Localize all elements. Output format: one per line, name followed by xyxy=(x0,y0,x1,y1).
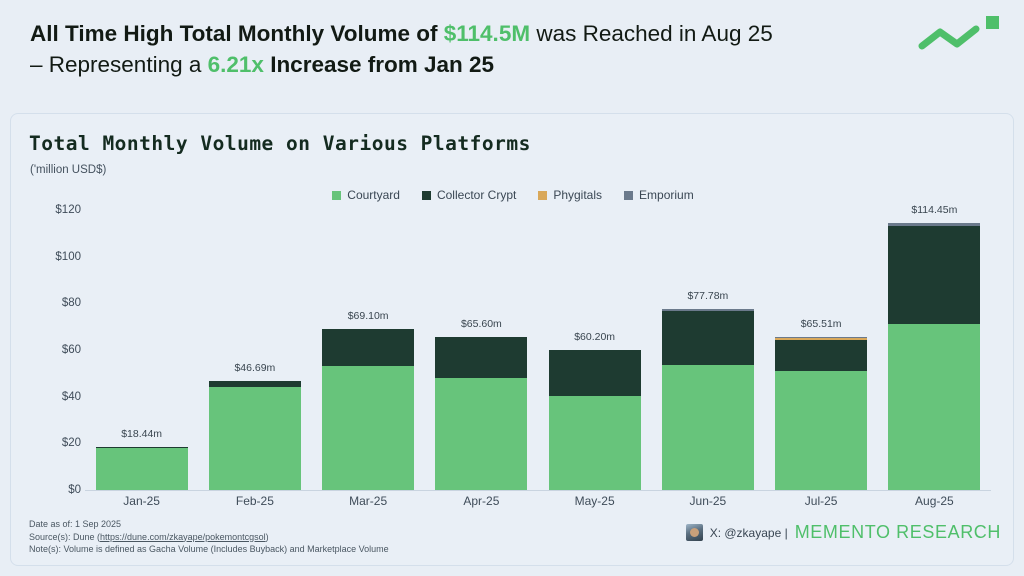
y-axis-tick: $80 xyxy=(62,297,81,309)
source-link[interactable]: https://dune.com/zkayape/pokemontcgsol xyxy=(100,532,266,542)
x-axis-tick: Aug-25 xyxy=(888,494,980,508)
headline-line1-post: was Reached in Aug 25 xyxy=(530,21,773,46)
bar-segment-courtyard[interactable] xyxy=(775,371,867,490)
y-axis-tick: $100 xyxy=(55,251,81,263)
legend-item-courtyard[interactable]: Courtyard xyxy=(332,188,400,202)
x-axis-tick: Jan-25 xyxy=(96,494,188,508)
headline-line1-pre: All Time High Total Monthly Volume of xyxy=(30,21,444,46)
x-axis-tick: Apr-25 xyxy=(435,494,527,508)
bar-value-label: $77.78m xyxy=(662,290,754,302)
brand-footer: X: @zkayape | MEMENTO RESEARCH xyxy=(686,522,1001,543)
legend-swatch-courtyard xyxy=(332,191,341,200)
legend-item-phygitals[interactable]: Phygitals xyxy=(538,188,602,202)
bar-stack[interactable] xyxy=(96,447,188,490)
bar-column[interactable]: $60.20m xyxy=(549,210,641,490)
legend-swatch-collector-crypt xyxy=(422,191,431,200)
legend-label-emporium: Emporium xyxy=(639,188,694,202)
y-axis-tick: $20 xyxy=(62,437,81,449)
x-axis-tick: Jun-25 xyxy=(662,494,754,508)
legend-swatch-phygitals xyxy=(538,191,547,200)
bar-segment-courtyard[interactable] xyxy=(435,378,527,490)
headline-line2-pre: – Representing a xyxy=(30,52,208,77)
legend-label-collector-crypt: Collector Crypt xyxy=(437,188,516,202)
chart-legend: Courtyard Collector Crypt Phygitals Empo… xyxy=(11,188,1015,202)
footnote-source: Source(s): Dune (https://dune.com/zkayap… xyxy=(29,531,389,544)
bar-stack[interactable] xyxy=(662,309,754,490)
headline-line2-post: Increase from Jan 25 xyxy=(264,52,494,77)
bars-container: $18.44m$46.69m$69.10m$65.60m$60.20m$77.7… xyxy=(85,210,991,491)
y-axis-tick: $120 xyxy=(55,204,81,216)
chart-plot-area: $120$100$80$60$40$20$0 $18.44m$46.69m$69… xyxy=(29,210,997,510)
y-axis-tick: $40 xyxy=(62,391,81,403)
bar-segment-courtyard[interactable] xyxy=(322,366,414,490)
bar-stack[interactable] xyxy=(549,350,641,490)
chart-title: Total Monthly Volume on Various Platform… xyxy=(29,132,531,155)
y-axis-tick: $60 xyxy=(62,344,81,356)
bar-column[interactable]: $65.60m xyxy=(435,210,527,490)
bar-segment-courtyard[interactable] xyxy=(888,324,980,490)
social-handle: X: @zkayape | xyxy=(710,526,788,540)
bar-column[interactable]: $114.45m xyxy=(888,210,980,490)
bar-segment-courtyard[interactable] xyxy=(662,365,754,490)
chart-footnotes: Date as of: 1 Sep 2025 Source(s): Dune (… xyxy=(29,518,389,556)
bar-column[interactable]: $18.44m xyxy=(96,210,188,490)
x-axis-tick: Jul-25 xyxy=(775,494,867,508)
bar-segment-collector-crypt[interactable] xyxy=(888,226,980,324)
bar-column[interactable]: $69.10m xyxy=(322,210,414,490)
y-axis-tick: $0 xyxy=(68,484,81,496)
bar-stack[interactable] xyxy=(209,381,301,490)
bar-value-label: $65.51m xyxy=(775,318,867,330)
bar-column[interactable]: $77.78m xyxy=(662,210,754,490)
bar-segment-courtyard[interactable] xyxy=(209,387,301,490)
x-axis: Jan-25Feb-25Mar-25Apr-25May-25Jun-25Jul-… xyxy=(85,494,991,508)
x-axis-tick: Mar-25 xyxy=(322,494,414,508)
brand-name: MEMENTO RESEARCH xyxy=(795,522,1001,543)
bar-value-label: $69.10m xyxy=(322,310,414,322)
legend-label-courtyard: Courtyard xyxy=(347,188,400,202)
bar-column[interactable]: $65.51m xyxy=(775,210,867,490)
chart-unit-label: ('million USD$) xyxy=(30,164,106,176)
legend-item-emporium[interactable]: Emporium xyxy=(624,188,694,202)
legend-label-phygitals: Phygitals xyxy=(553,188,602,202)
x-axis-tick: Feb-25 xyxy=(209,494,301,508)
bar-value-label: $65.60m xyxy=(435,318,527,330)
avatar xyxy=(686,524,703,541)
bar-stack[interactable] xyxy=(888,223,980,490)
footnote-source-post: ) xyxy=(266,532,269,542)
bar-segment-collector-crypt[interactable] xyxy=(435,337,527,379)
legend-swatch-emporium xyxy=(624,191,633,200)
bar-segment-collector-crypt[interactable] xyxy=(662,311,754,365)
bar-value-label: $114.45m xyxy=(888,204,980,216)
bar-segment-courtyard[interactable] xyxy=(549,396,641,490)
footnote-note: Note(s): Volume is defined as Gacha Volu… xyxy=(29,543,389,556)
footnote-source-pre: Source(s): Dune ( xyxy=(29,532,100,542)
bar-value-label: $18.44m xyxy=(96,428,188,440)
bar-segment-courtyard[interactable] xyxy=(96,448,188,490)
bar-segment-collector-crypt[interactable] xyxy=(775,340,867,372)
bar-value-label: $46.69m xyxy=(209,362,301,374)
y-axis: $120$100$80$60$40$20$0 xyxy=(29,210,81,490)
x-axis-tick: May-25 xyxy=(549,494,641,508)
bar-segment-collector-crypt[interactable] xyxy=(549,350,641,397)
bar-stack[interactable] xyxy=(322,329,414,490)
bar-value-label: $60.20m xyxy=(549,331,641,343)
chart-card: Total Monthly Volume on Various Platform… xyxy=(10,113,1014,566)
headline-value-highlight: $114.5M xyxy=(444,21,530,46)
footnote-date: Date as of: 1 Sep 2025 xyxy=(29,518,389,531)
legend-item-collector-crypt[interactable]: Collector Crypt xyxy=(422,188,516,202)
bar-segment-collector-crypt[interactable] xyxy=(322,329,414,366)
headline-bar: All Time High Total Monthly Volume of $1… xyxy=(0,0,1024,108)
memento-zigzag-logo-icon xyxy=(918,14,1004,56)
bar-stack[interactable] xyxy=(435,337,527,490)
headline-multiple-highlight: 6.21x xyxy=(208,52,264,77)
bar-stack[interactable] xyxy=(775,337,867,490)
page-title: All Time High Total Monthly Volume of $1… xyxy=(30,18,890,80)
bar-column[interactable]: $46.69m xyxy=(209,210,301,490)
